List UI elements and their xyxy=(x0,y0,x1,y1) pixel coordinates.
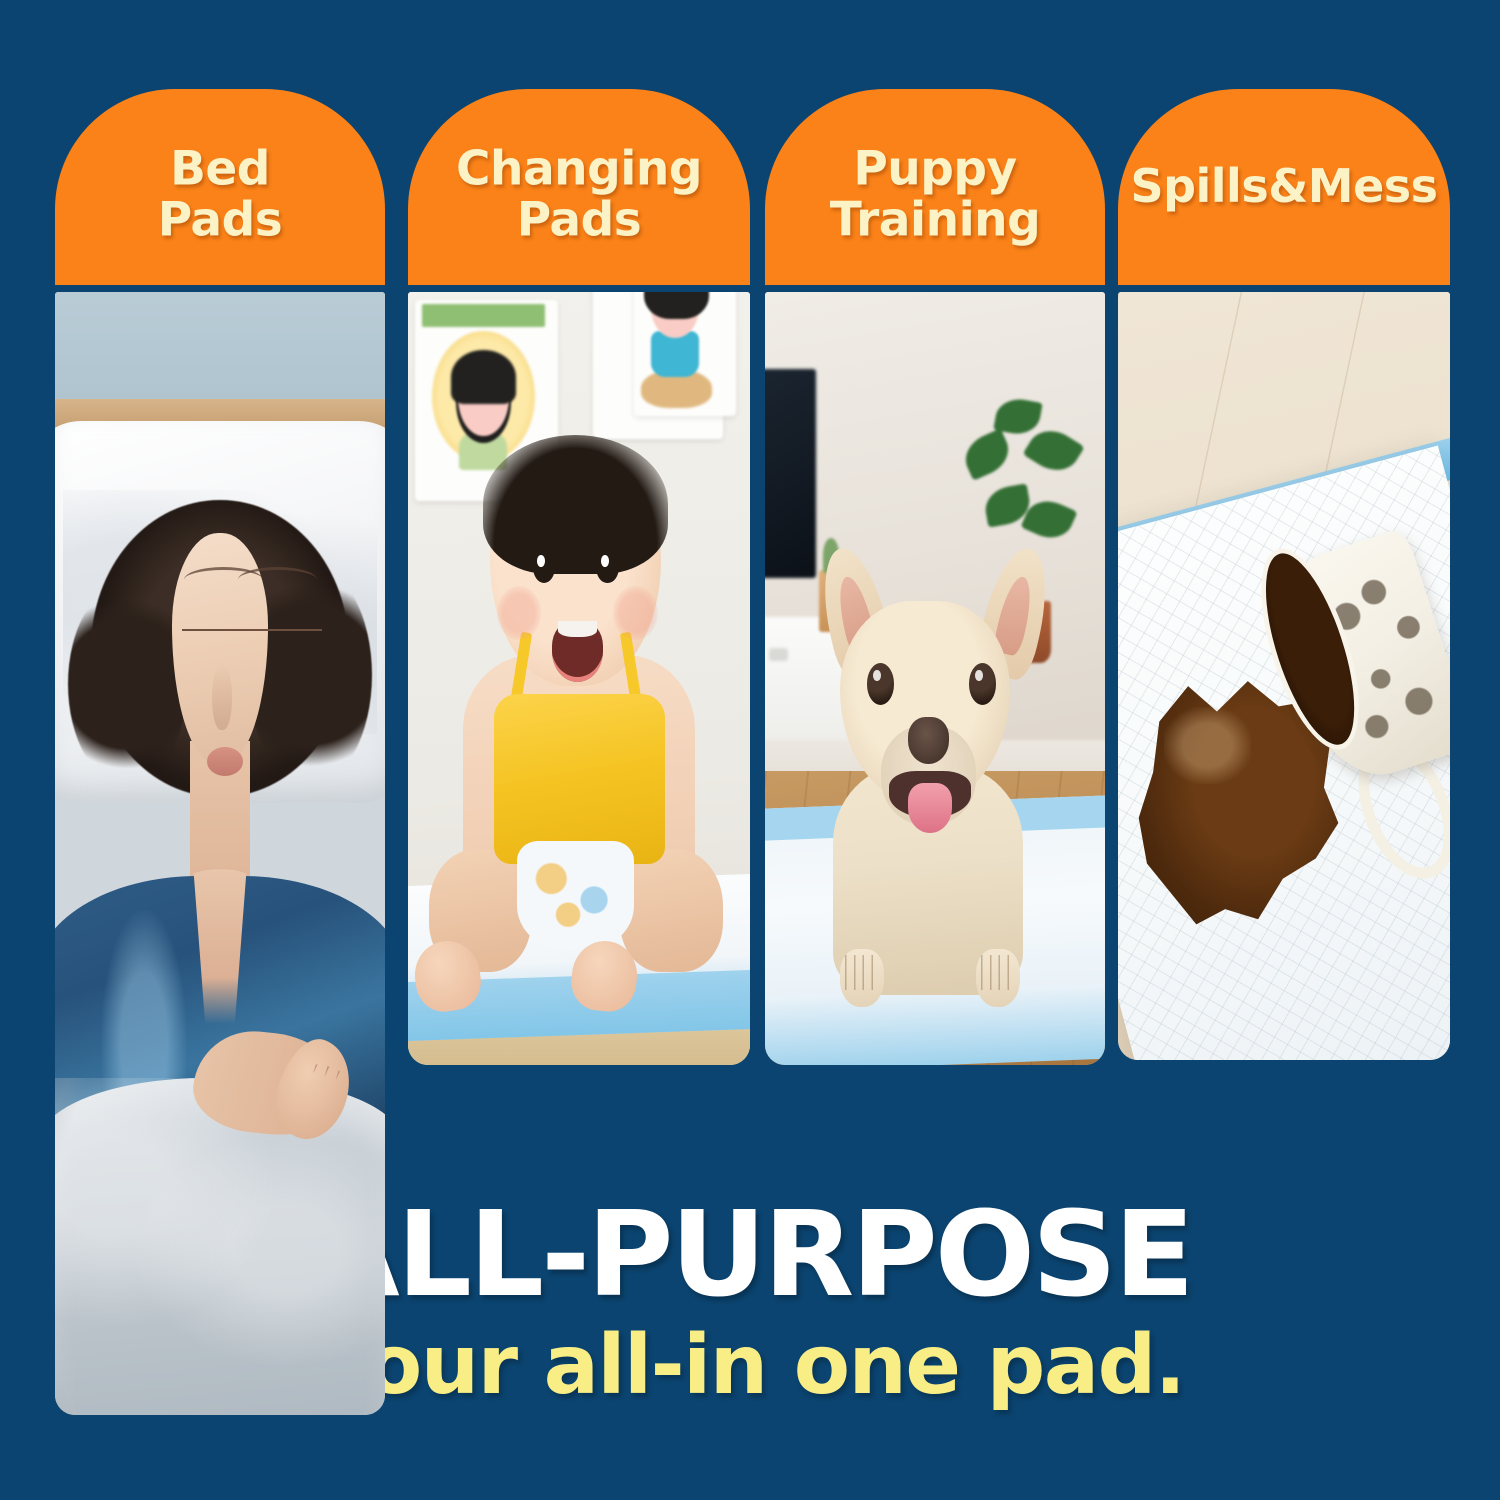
eyebrow-right xyxy=(238,567,317,592)
feature-tab-changing-pads[interactable]: Changing Pads xyxy=(408,89,750,285)
baby-cheek-right xyxy=(613,586,657,640)
feature-tab-label-changing-pads: Changing Pads xyxy=(408,144,750,246)
nose xyxy=(212,663,232,730)
spill-highlight xyxy=(1164,707,1250,784)
plant-leaf xyxy=(1022,421,1084,480)
scene-french-bulldog xyxy=(765,292,1105,1065)
feature-tab-label-bed-pads: Bed Pads xyxy=(55,144,385,246)
scene-happy-baby xyxy=(408,292,750,1065)
poster-green-banner xyxy=(422,304,545,327)
television xyxy=(765,369,816,578)
baby-leg-right xyxy=(620,849,723,973)
feature-photo-spills-and-mess xyxy=(1118,292,1450,1060)
scene-sleeping-woman xyxy=(55,292,385,1415)
feature-photo-puppy-training xyxy=(765,292,1105,1065)
feature-photo-bed-pads xyxy=(55,292,385,1415)
baby-diaper xyxy=(517,841,633,949)
feature-tab-label-spills-and-mess: Spills&Mess xyxy=(1035,162,1500,212)
baby-eye-right xyxy=(596,551,619,583)
dog-eye-right xyxy=(969,663,996,705)
dog-eye-left xyxy=(867,663,894,705)
baby-open-mouth xyxy=(552,621,603,683)
baby-hair xyxy=(483,435,668,574)
closed-eye-right xyxy=(237,629,323,667)
dog-paw-right xyxy=(976,949,1020,1007)
dog-paw-left xyxy=(840,949,884,1007)
feature-tab-spills-and-mess[interactable]: Spills&Mess xyxy=(1118,89,1450,285)
product-feature-poster: Bed Pads xyxy=(0,0,1500,1500)
feature-tab-bed-pads[interactable]: Bed Pads xyxy=(55,89,385,285)
dog-tongue xyxy=(908,783,952,833)
scene-coffee-spill xyxy=(1118,292,1450,1060)
plant-leaf xyxy=(993,395,1042,437)
feature-photo-changing-pads xyxy=(408,292,750,1065)
dog-nose xyxy=(908,717,949,763)
plant-leaf xyxy=(958,428,1015,481)
cartoon-girl-hair xyxy=(451,350,516,404)
lips xyxy=(207,747,243,776)
grey-duvet xyxy=(55,1078,385,1415)
baby-cheek-left xyxy=(497,586,541,640)
yellow-tank-top xyxy=(494,694,665,864)
bedroom-wall xyxy=(55,292,385,416)
